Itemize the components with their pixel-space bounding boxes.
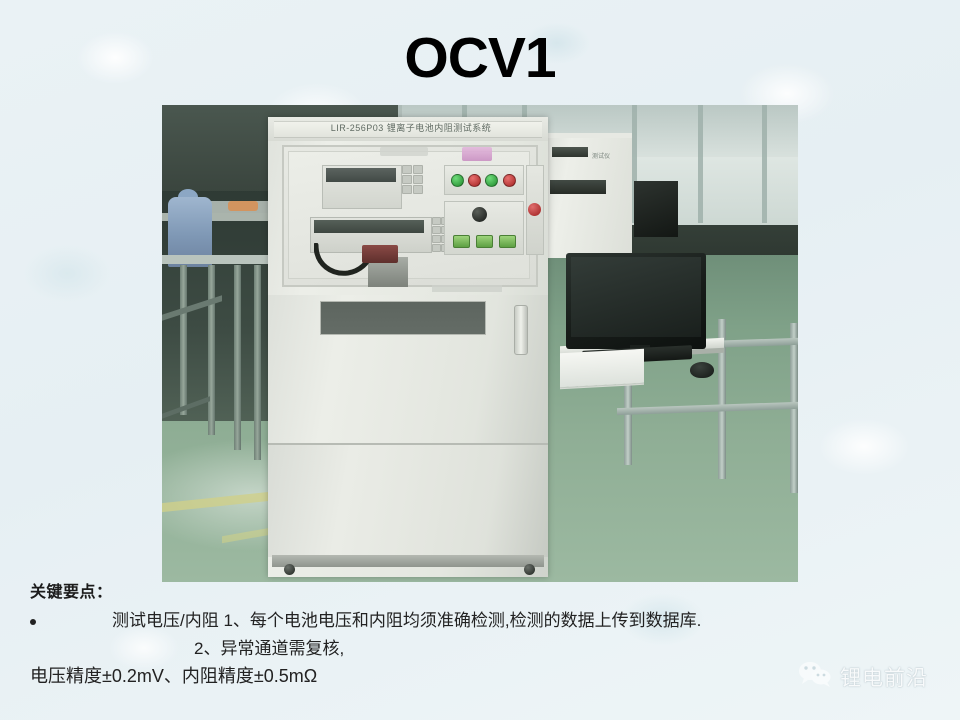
panel-logo [380, 147, 428, 156]
page-title: OCV1 [0, 26, 960, 90]
emergency-stop-button [528, 203, 541, 216]
indicator-lamp-red [468, 174, 481, 187]
rack-leg [180, 265, 187, 415]
manufacturer-plate [432, 285, 502, 292]
cabinet-lower-door [268, 445, 548, 557]
upper-instrument-keypad [402, 165, 438, 193]
tester-nameplate-text: LIR-256P03 锂离子电池内阻测试系统 [280, 121, 542, 136]
cabinet-door-handle [514, 305, 528, 355]
watermark-text: 锂电前沿 [840, 662, 928, 692]
rack-leg [234, 265, 241, 450]
selector-knob [472, 207, 487, 222]
computer-mouse [690, 362, 714, 378]
indicator-lamp-green [485, 174, 498, 187]
panel-sticker [462, 147, 492, 161]
window-mullion [698, 105, 703, 223]
indicator-lamp-red [503, 174, 516, 187]
cabinet-caster [284, 564, 295, 575]
cabinet-base [272, 555, 544, 567]
rack-leg [208, 265, 215, 435]
operation-button [453, 235, 470, 248]
key-points-line-2: 2、异常通道需复核, [194, 634, 344, 659]
cabinet-view-window [320, 301, 486, 335]
watermark: 锂电前沿 [798, 660, 928, 693]
rear-cabinet-label: 测试仪 [592, 151, 620, 173]
rear-cabinet-slot [552, 147, 588, 157]
rack-leg [254, 265, 261, 460]
key-points-bullet-text: 测试电压/内阻 1、每个电池电压和内阻均须准确检测,检测的数据上传到数据库. [112, 611, 701, 630]
lower-instrument-display [314, 220, 424, 233]
monitor-screen [571, 257, 701, 337]
paper-stack [560, 349, 644, 387]
background-monitor [634, 181, 678, 237]
window-mullion [762, 105, 767, 223]
key-points-line-3: 电压精度±0.2mV、内阻精度±0.5mΩ [30, 662, 317, 688]
rear-cabinet-panel [550, 180, 606, 194]
equipment-photo: 测试仪 LIR-256P03 锂离子电池内阻测试系统 [162, 105, 798, 582]
bench-object [228, 201, 258, 211]
operation-button [476, 235, 493, 248]
key-points-bullet-row: 测试电压/内阻 1、每个电池电压和内阻均须准确检测,检测的数据上传到数据库. [30, 606, 930, 631]
key-points-heading: 关键要点： [30, 578, 113, 602]
upper-instrument-display [326, 168, 396, 182]
operation-button [499, 235, 516, 248]
wechat-icon [798, 660, 832, 693]
cable-connector [362, 245, 398, 263]
cabinet-caster [524, 564, 535, 575]
indicator-lamp-green [451, 174, 464, 187]
bullet-marker [30, 619, 36, 625]
indicator-lamp-panel [444, 165, 524, 195]
